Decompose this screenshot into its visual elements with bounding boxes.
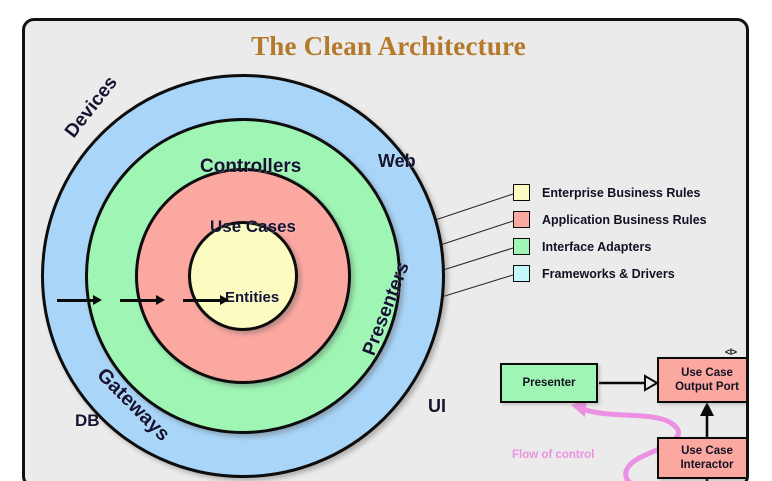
legend-label-frameworks: Frameworks & Drivers (542, 267, 675, 281)
dependency-arrow-icon-2 (120, 295, 165, 306)
legend-swatch-application-icon (513, 211, 530, 228)
ring-label-db: DB (75, 411, 100, 431)
ring-label-ui: UI (428, 396, 446, 417)
uml-box-interactor-label: Use Case Interactor (680, 444, 733, 472)
uml-box-output-port-label: Use Case Output Port (675, 366, 739, 394)
uml-box-use-case-output-port[interactable]: Use Case Output Port (657, 357, 749, 403)
diagram-frame: The Clean Architecture Devices DB Web UI… (22, 18, 749, 481)
arrow-head (93, 295, 102, 305)
flow-of-control-label: Flow of control (512, 449, 594, 461)
interface-stereotype-marker: <I> (725, 347, 737, 357)
legend-item-interface-adapters[interactable]: Interface Adapters (513, 233, 707, 260)
interactor-line-1: Use Case (681, 445, 733, 457)
legend-swatch-adapters-icon (513, 238, 530, 255)
arrow-shaft (120, 299, 157, 302)
arrow-shaft (57, 299, 94, 302)
legend: Enterprise Business Rules Application Bu… (513, 179, 707, 287)
ring-enterprise-business-rules[interactable] (188, 221, 298, 331)
legend-label-adapters: Interface Adapters (542, 240, 651, 254)
arrow-shaft (183, 299, 221, 302)
dependency-arrow-icon-1 (57, 295, 102, 306)
legend-swatch-frameworks-icon (513, 265, 530, 282)
legend-label-application: Application Business Rules (542, 213, 707, 227)
flow-of-control-diagram: Presenter <I> Use Case Output Port Use C… (475, 331, 749, 481)
dependency-arrow-icon-3 (183, 295, 230, 306)
ring-label-web: Web (378, 151, 416, 172)
output-port-line-2: Output Port (675, 381, 739, 393)
ring-label-entities: Entities (225, 289, 279, 306)
diagram-page: The Clean Architecture Devices DB Web UI… (0, 0, 772, 481)
arrow-head (156, 295, 165, 305)
legend-label-enterprise: Enterprise Business Rules (542, 186, 700, 200)
legend-item-frameworks-and-drivers[interactable]: Frameworks & Drivers (513, 260, 707, 287)
arrowhead-implements-output-port (645, 376, 657, 390)
legend-item-application-business-rules[interactable]: Application Business Rules (513, 206, 707, 233)
arrow-head (220, 295, 229, 305)
uml-box-presenter[interactable]: Presenter (500, 363, 598, 403)
ring-label-use-cases: Use Cases (210, 217, 296, 237)
legend-swatch-enterprise-icon (513, 184, 530, 201)
output-port-line-1: Use Case (681, 367, 733, 379)
arrowhead-uses-output-port (700, 402, 714, 416)
legend-item-enterprise-business-rules[interactable]: Enterprise Business Rules (513, 179, 707, 206)
ring-label-controllers: Controllers (200, 156, 301, 178)
page-title: The Clean Architecture (25, 31, 749, 62)
leader-line-frameworks (435, 275, 513, 299)
uml-box-presenter-label: Presenter (522, 376, 575, 390)
interactor-line-2: Interactor (680, 459, 733, 471)
uml-box-use-case-interactor[interactable]: Use Case Interactor (657, 437, 749, 479)
